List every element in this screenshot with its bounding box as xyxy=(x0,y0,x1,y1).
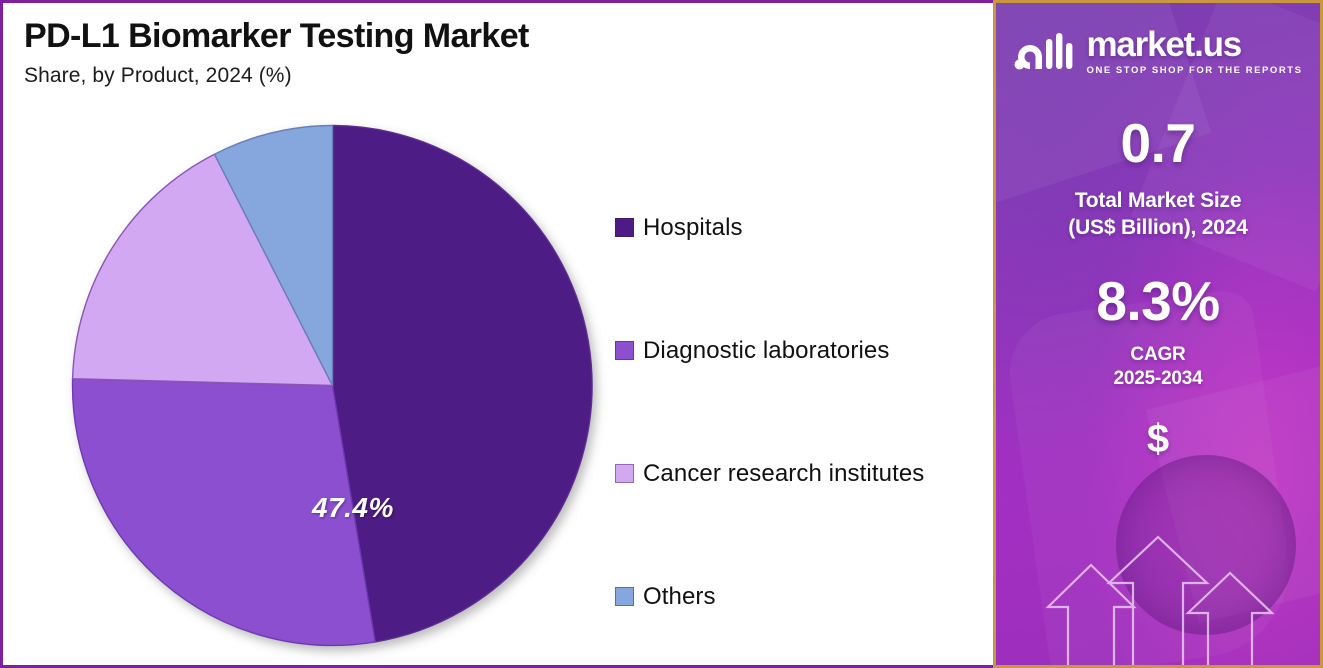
page-title: PD-L1 Biomarker Testing Market xyxy=(24,17,529,55)
cagr-caption-line2: 2025-2034 xyxy=(996,367,1320,392)
cagr-caption-line1: CAGR xyxy=(996,343,1320,368)
stats-panel: market.us ONE STOP SHOP FOR THE REPORTS … xyxy=(993,0,1323,668)
pie-slice-value-label: 47.4% xyxy=(312,492,394,524)
market-size-value: 0.7 xyxy=(996,116,1320,171)
pie-slices xyxy=(73,126,593,646)
legend-item-diagnostic-laboratories[interactable]: Diagnostic laboratories xyxy=(615,289,985,412)
market-size-caption-line2: (US$ Billion), 2024 xyxy=(996,215,1320,241)
growth-arrows-icon xyxy=(996,535,1323,665)
legend-item-others[interactable]: Others xyxy=(615,535,985,658)
market-size-caption: Total Market Size (US$ Billion), 2024 xyxy=(996,188,1320,241)
legend-item-hospitals[interactable]: Hospitals xyxy=(615,166,985,289)
title-block: PD-L1 Biomarker Testing Market Share, by… xyxy=(24,17,529,88)
legend-item-label: Cancer research institutes xyxy=(643,460,924,488)
legend-item-cancer-research-institutes[interactable]: Cancer research institutes xyxy=(615,412,985,535)
dollar-sign-icon: $ xyxy=(996,419,1320,459)
legend-item-label: Others xyxy=(643,583,716,611)
cagr-caption: CAGR 2025-2034 xyxy=(996,343,1320,392)
brand-logo[interactable]: market.us ONE STOP SHOP FOR THE REPORTS xyxy=(996,28,1320,76)
legend-item-label: Diagnostic laboratories xyxy=(643,337,889,365)
stats-panel-content: market.us ONE STOP SHOP FOR THE REPORTS … xyxy=(996,28,1320,459)
pie-slice-hospitals[interactable] xyxy=(333,126,593,642)
legend-swatch-icon xyxy=(615,341,634,360)
brand-tagline: ONE STOP SHOP FOR THE REPORTS xyxy=(1087,65,1303,76)
chart-subtitle: Share, by Product, 2024 (%) xyxy=(24,64,529,88)
legend: Hospitals Diagnostic laboratories Cancer… xyxy=(615,166,985,658)
brand-text: market.us ONE STOP SHOP FOR THE REPORTS xyxy=(1087,28,1303,76)
pie-chart-svg xyxy=(72,125,593,646)
brand-name: market.us xyxy=(1087,28,1303,61)
legend-item-label: Hospitals xyxy=(643,214,743,242)
infographic-root: PD-L1 Biomarker Testing Market Share, by… xyxy=(0,0,1323,668)
market-size-caption-line1: Total Market Size xyxy=(996,188,1320,214)
pie-chart: 47.4% xyxy=(72,125,593,646)
legend-swatch-icon xyxy=(615,587,634,606)
market-us-logo-icon xyxy=(1014,31,1076,73)
legend-swatch-icon xyxy=(615,464,634,483)
cagr-value: 8.3% xyxy=(996,274,1320,329)
legend-swatch-icon xyxy=(615,218,634,237)
chart-panel: PD-L1 Biomarker Testing Market Share, by… xyxy=(0,0,993,668)
